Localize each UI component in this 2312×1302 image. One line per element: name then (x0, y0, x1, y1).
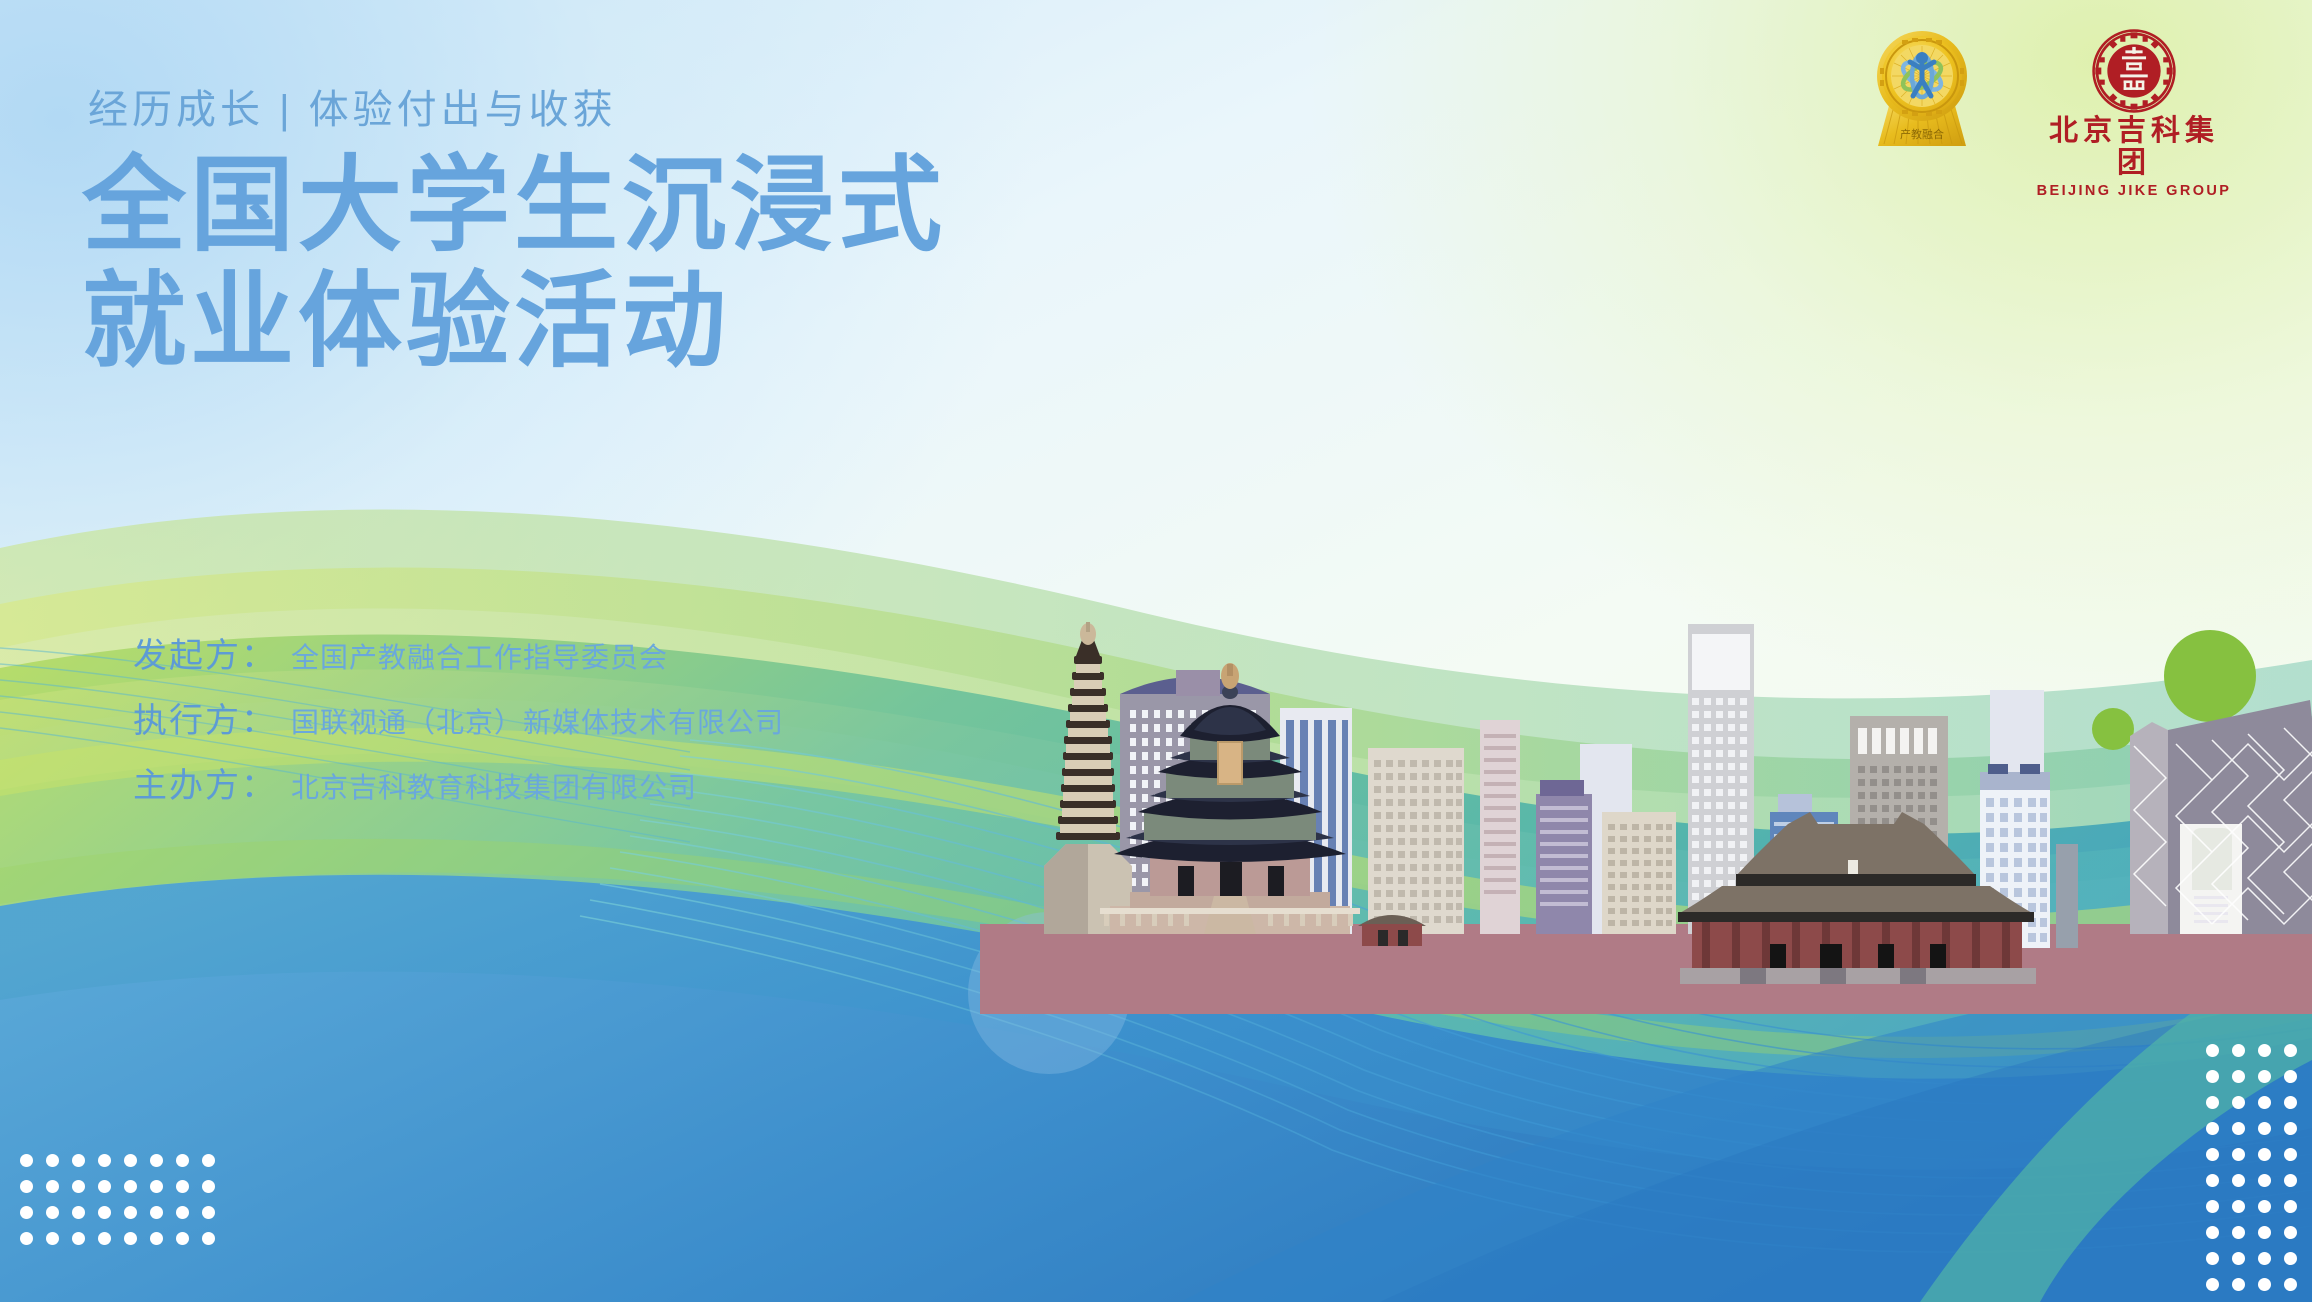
logo-group: 产教融合 (1868, 28, 2234, 199)
decor-dot (98, 1232, 111, 1245)
decor-dot (176, 1180, 189, 1193)
decor-dot (2232, 1070, 2245, 1083)
decor-dot (72, 1180, 85, 1193)
decor-dot (2232, 1174, 2245, 1187)
decor-dot (2206, 1226, 2219, 1239)
decor-dot (20, 1180, 33, 1193)
decor-dot (2206, 1200, 2219, 1213)
decor-dot (2206, 1278, 2219, 1291)
decor-dot (202, 1206, 215, 1219)
decor-dot (124, 1232, 137, 1245)
decor-dot (202, 1154, 215, 1167)
decor-dot (2258, 1252, 2271, 1265)
organizer-label: 发起方： (133, 628, 291, 677)
beijing-jike-group-logo: 北京吉科集团 BEIJING JIKE GROUP (2034, 28, 2234, 199)
decor-dot (2258, 1122, 2271, 1135)
jike-seal-icon (2091, 28, 2177, 114)
decor-dot (2258, 1200, 2271, 1213)
decor-dot (2206, 1096, 2219, 1109)
decor-dot (2284, 1278, 2297, 1291)
decor-dot (72, 1206, 85, 1219)
decor-dot (2284, 1122, 2297, 1135)
decor-dot (2206, 1070, 2219, 1083)
decor-dot (202, 1180, 215, 1193)
medal-caption: 产教融合 (1900, 127, 1944, 141)
organizer-label: 执行方： (133, 693, 291, 742)
decor-dot (2258, 1148, 2271, 1161)
poster-title-line-1: 全国大学生沉浸式 (82, 148, 946, 264)
decor-dot (2206, 1148, 2219, 1161)
decor-dot (2258, 1174, 2271, 1187)
decor-dot (2284, 1070, 2297, 1083)
poster-title-line-2: 就业体验活动 (82, 264, 946, 380)
decor-dot (46, 1232, 59, 1245)
poster-title: 全国大学生沉浸式 就业体验活动 (82, 148, 946, 381)
decor-dot (20, 1154, 33, 1167)
decor-dot (2284, 1148, 2297, 1161)
decor-dot (124, 1180, 137, 1193)
decor-dot (150, 1154, 163, 1167)
decor-dot (2206, 1252, 2219, 1265)
decor-dot (150, 1206, 163, 1219)
decor-dot (2284, 1200, 2297, 1213)
chanjiao-ronghe-medal-logo: 产教融合 (1868, 28, 1976, 146)
organizer-row: 发起方： 全国产教融合工作指导委员会 (133, 628, 784, 677)
decor-dot (176, 1154, 189, 1167)
decor-dot (2258, 1096, 2271, 1109)
decor-dot (72, 1154, 85, 1167)
decor-dot (2232, 1122, 2245, 1135)
decor-dot (202, 1232, 215, 1245)
poster-canvas: 经历成长 | 体验付出与收获 全国大学生沉浸式 就业体验活动 发起方： 全国产教… (0, 0, 2312, 1302)
decor-dot (2232, 1226, 2245, 1239)
decor-dot (98, 1206, 111, 1219)
beijing-skyline-illustration (980, 494, 2312, 1014)
decor-dot (150, 1180, 163, 1193)
organizer-value: 北京吉科教育科技集团有限公司 (291, 766, 697, 806)
jike-logo-chinese-name: 北京吉科集团 (2034, 116, 2234, 180)
pagoda-shape (1044, 622, 1132, 934)
decor-dot (176, 1206, 189, 1219)
decor-dot (2284, 1252, 2297, 1265)
decor-dot (2284, 1096, 2297, 1109)
decor-dot (46, 1180, 59, 1193)
organizer-value: 全国产教融合工作指导委员会 (291, 636, 668, 676)
decor-dot (2232, 1200, 2245, 1213)
decor-dot (98, 1180, 111, 1193)
organizer-value: 国联视通（北京）新媒体技术有限公司 (291, 701, 784, 741)
organizer-row: 执行方： 国联视通（北京）新媒体技术有限公司 (133, 693, 784, 742)
decor-dot-grid-bottom-left (14, 1148, 222, 1252)
jike-logo-english-name: BEIJING JIKE GROUP (2034, 183, 2234, 199)
organizer-info-block: 发起方： 全国产教融合工作指导委员会 执行方： 国联视通（北京）新媒体技术有限公… (133, 628, 784, 807)
decor-dot (98, 1154, 111, 1167)
organizer-label: 主办方： (133, 758, 291, 807)
decor-dot (2284, 1174, 2297, 1187)
decor-dot (2232, 1148, 2245, 1161)
decor-dot (2232, 1044, 2245, 1057)
decor-dot-grid-bottom-right (2200, 1038, 2304, 1298)
decor-dot (2206, 1122, 2219, 1135)
decor-dot (2232, 1278, 2245, 1291)
decor-dot (2284, 1226, 2297, 1239)
decor-dot (72, 1232, 85, 1245)
decor-dot (124, 1206, 137, 1219)
decor-dot (176, 1232, 189, 1245)
decor-dot (2258, 1226, 2271, 1239)
decor-dot (150, 1232, 163, 1245)
decor-dot (2284, 1044, 2297, 1057)
poster-subtitle: 经历成长 | 体验付出与收获 (88, 77, 617, 135)
decor-dot (2258, 1278, 2271, 1291)
decor-dot (2206, 1044, 2219, 1057)
decor-dot (20, 1206, 33, 1219)
decor-dot (124, 1154, 137, 1167)
decor-dot (46, 1154, 59, 1167)
decor-dot (2258, 1070, 2271, 1083)
decor-dot (20, 1232, 33, 1245)
decor-dot (2206, 1174, 2219, 1187)
cctv-building-shape (2130, 700, 2312, 934)
decor-dot (2232, 1252, 2245, 1265)
organizer-row: 主办方： 北京吉科教育科技集团有限公司 (133, 758, 784, 807)
decor-dot (2232, 1096, 2245, 1109)
decor-dot (2258, 1044, 2271, 1057)
decor-dot (46, 1206, 59, 1219)
